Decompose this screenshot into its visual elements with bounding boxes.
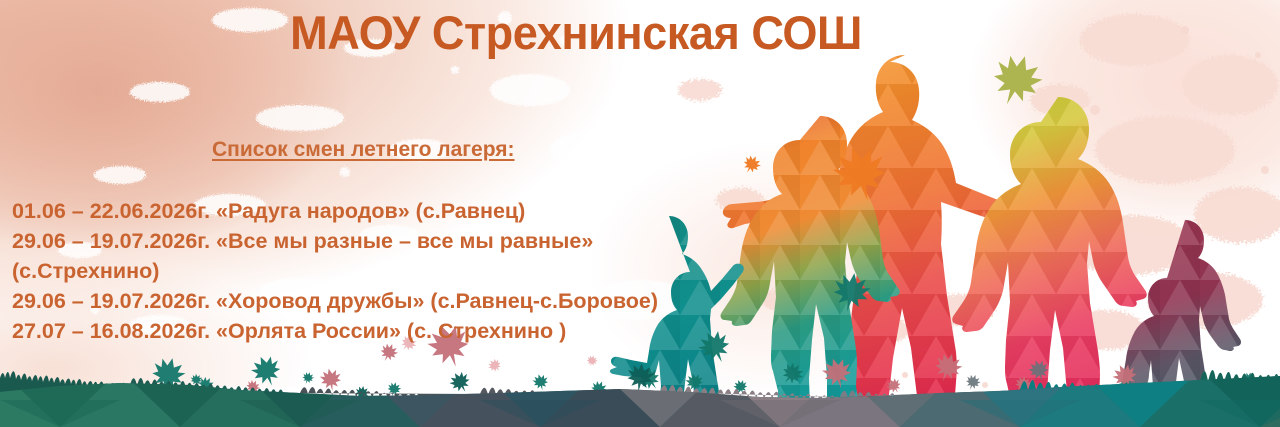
list-item: 27.07 – 16.08.2026г. «Орлята России» (с.… — [12, 316, 712, 346]
list-item: 01.06 – 22.06.2026г. «Радуга народов» (с… — [12, 196, 712, 226]
ground-polygon-band — [0, 370, 1280, 427]
list-item: 29.06 – 19.07.2026г. «Хоровод дружбы» (с… — [12, 286, 712, 316]
camp-shift-list: 01.06 – 22.06.2026г. «Радуга народов» (с… — [12, 196, 712, 346]
school-summer-camp-banner: МАОУ Стрехнинская СОШ Список смен летнег… — [0, 0, 1280, 427]
list-item: 29.06 – 19.07.2026г. «Все мы разные – вс… — [12, 226, 712, 286]
page-title: МАОУ Стрехнинская СОШ — [211, 6, 941, 60]
shift-list-heading: Список смен летнего лагеря: — [212, 137, 515, 163]
